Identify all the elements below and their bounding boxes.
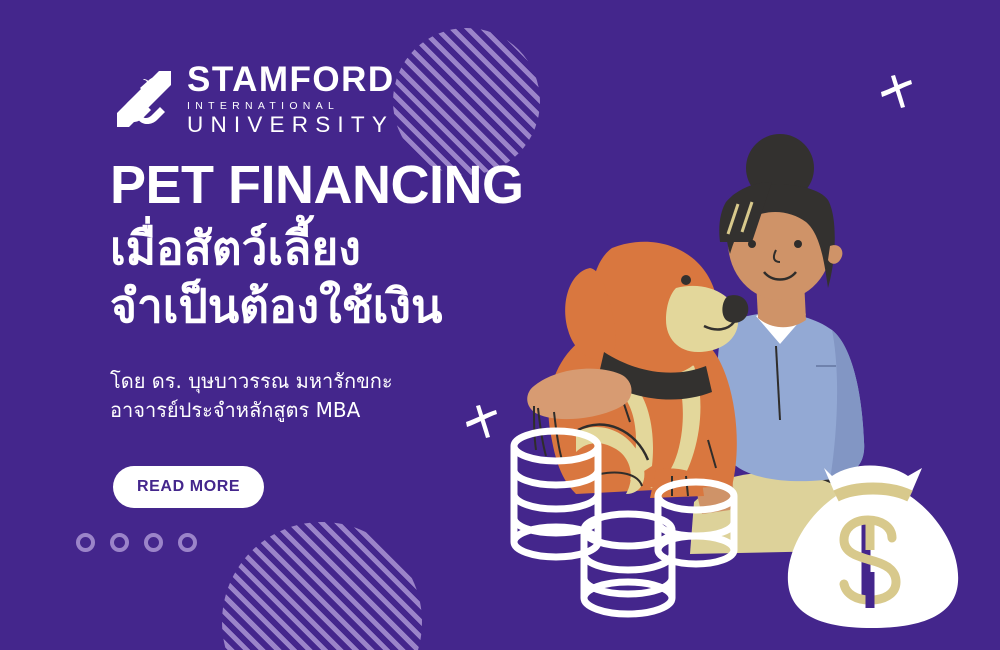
dot-row-left [76, 533, 212, 552]
logo-line-stamford: STAMFORD [187, 62, 395, 97]
dot-decoration [76, 533, 95, 552]
logo-line-university: UNIVERSITY [187, 114, 395, 137]
dot-decoration [144, 533, 163, 552]
read-more-button[interactable]: READ MORE [113, 466, 264, 508]
headline-thai-line-2: จำเป็นต้องใช้เงิน [110, 280, 442, 333]
cross-decoration-icon [875, 70, 919, 114]
stamford-logo-wordmark: STAMFORD INTERNATIONAL UNIVERSITY [187, 62, 395, 136]
dot-decoration [178, 533, 197, 552]
stamford-logo[interactable]: STAMFORD INTERNATIONAL UNIVERSITY [113, 62, 395, 136]
stamford-ribbon-mark-icon [113, 63, 175, 135]
promo-banner: STAMFORD INTERNATIONAL UNIVERSITY PET FI… [0, 0, 1000, 650]
byline-author: โดย ดร. บุษบาวรรณ มหารักขกะ [110, 367, 393, 396]
logo-line-international: INTERNATIONAL [187, 101, 395, 112]
dot-decoration [110, 533, 129, 552]
illustration-woman-dog-money [480, 130, 1000, 650]
striped-circle-decoration-bottom [222, 522, 422, 650]
headline-english: PET FINANCING [110, 158, 524, 212]
headline-thai-line-1: เมื่อสัตว์เลี้ยง [110, 222, 361, 275]
byline-role: อาจารย์ประจำหลักสูตร MBA [110, 396, 393, 425]
byline: โดย ดร. บุษบาวรรณ มหารักขกะ อาจารย์ประจำ… [110, 367, 393, 425]
